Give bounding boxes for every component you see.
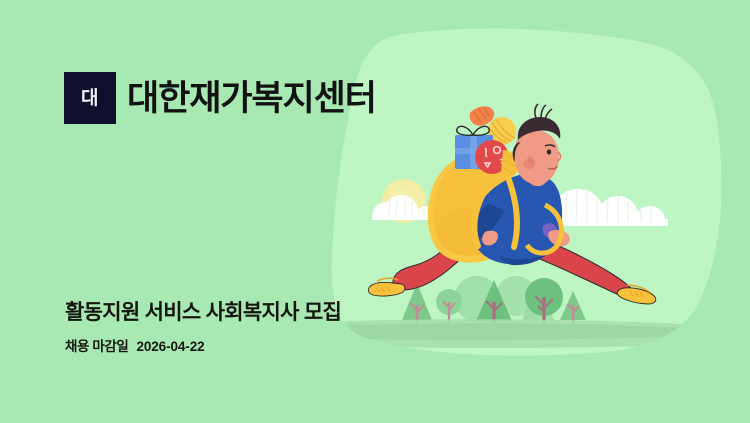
recruitment-banner: 대 대한재가복지센터 활동지원 서비스 사회복지사 모집 채용 마감일 2026…: [0, 0, 750, 423]
org-logo-char: 대: [81, 89, 99, 108]
org-logo-badge: 대: [64, 72, 116, 124]
org-name: 대한재가복지센터: [127, 81, 376, 116]
deadline-label: 채용 마감일: [65, 335, 128, 355]
illustration-running-person-with-gift-backpack: [0, 0, 750, 423]
deadline-date: 2026-04-22: [136, 339, 204, 354]
banner-copy: 활동지원 서비스 사회복지사 모집 채용 마감일 2026-04-22: [65, 300, 341, 355]
banner-header: 대 대한재가복지센터: [64, 72, 376, 124]
deadline-row: 채용 마감일 2026-04-22: [65, 335, 341, 355]
job-title: 활동지원 서비스 사회복지사 모집: [65, 300, 341, 326]
